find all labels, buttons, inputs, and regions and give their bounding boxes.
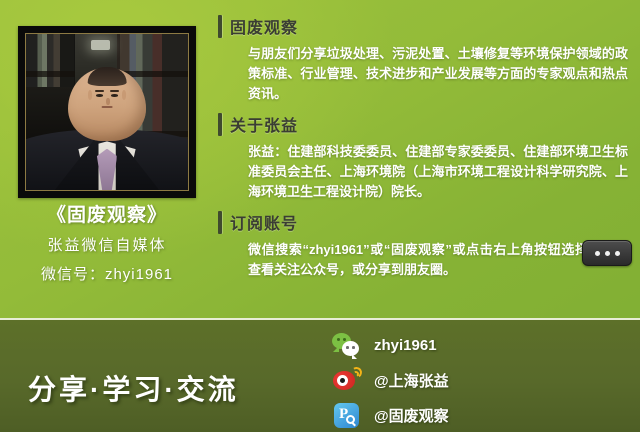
- section-marker-bar: [218, 113, 222, 136]
- section-marker-bar: [218, 15, 222, 38]
- sogou-search-icon: P: [332, 401, 362, 429]
- weibo-icon: [332, 366, 362, 394]
- eyebrow-left: [95, 90, 104, 92]
- more-options-button[interactable]: [582, 240, 632, 266]
- wechat-profile-card: 《固废观察》 张益微信自媒体 微信号：zhyi1961 固废观察 与朋友们分享垃…: [0, 0, 640, 432]
- dot-icon: [595, 251, 600, 256]
- wechat-bubble-white: [342, 341, 359, 356]
- profile-column: 《固废观察》 张益微信自媒体 微信号：zhyi1961: [0, 0, 214, 318]
- section-about-author: 关于张益 张益：住建部科技委委员、住建部专家委委员、住建部环境卫生标准委员会主任…: [214, 112, 640, 202]
- section-about-account: 固废观察 与朋友们分享垃圾处理、污泥处置、土壤修复等环境保护领域的政策标准、行业…: [214, 14, 640, 104]
- eye-right: [111, 94, 118, 97]
- section-marker-bar: [218, 211, 222, 234]
- portrait-scene: [26, 34, 188, 190]
- section-header: 关于张益: [214, 112, 640, 138]
- section-body: 与朋友们分享垃圾处理、污泥处置、土壤修复等环境保护领域的政策标准、行业管理、技术…: [248, 44, 628, 104]
- footer-slogan: 分享·学习·交流: [28, 368, 239, 408]
- social-row-sogou[interactable]: P @固废观察: [332, 398, 502, 432]
- ear-left: [88, 90, 93, 99]
- wechat-icon: [332, 331, 362, 359]
- sogou-tile: P: [334, 403, 359, 428]
- social-label: @固废观察: [374, 405, 449, 426]
- section-title: 固废观察: [230, 20, 298, 37]
- section-body: 张益：住建部科技委委员、住建部专家委委员、住建部环境卫生标准委员会主任、上海环境…: [248, 142, 628, 202]
- nose: [106, 98, 110, 105]
- social-label: zhyi1961: [374, 337, 437, 354]
- social-links: zhyi1961 @上海张益 P @固废观察: [332, 328, 502, 432]
- section-header: 固废观察: [214, 14, 640, 40]
- hair: [88, 67, 127, 86]
- dot-icon: [615, 251, 620, 256]
- account-title: 《固废观察》: [0, 200, 214, 227]
- social-row-weibo[interactable]: @上海张益: [332, 363, 502, 397]
- mouth: [102, 106, 113, 107]
- magnifier-icon: [346, 415, 355, 424]
- section-title: 关于张益: [230, 118, 298, 135]
- portrait-photo: [25, 33, 189, 191]
- footer-bar: 分享·学习·交流 zhyi1961 @上海张益: [0, 318, 640, 432]
- section-subscribe: 订阅账号 微信搜索“zhyi1961”或“固废观察”或点击右上角按钮选择查看关注…: [214, 210, 640, 280]
- account-subtitle: 张益微信自媒体: [0, 234, 214, 255]
- section-header: 订阅账号: [214, 210, 640, 236]
- weibo-eye: [333, 371, 355, 390]
- head: [68, 68, 145, 141]
- section-body: 微信搜索“zhyi1961”或“固废观察”或点击右上角按钮选择查看关注公众号，或…: [248, 240, 588, 280]
- profile-caption: 《固废观察》 张益微信自媒体 微信号：zhyi1961: [0, 200, 214, 284]
- portrait-photo-frame: [18, 26, 196, 198]
- ceiling-light: [91, 40, 110, 49]
- section-title: 订阅账号: [230, 216, 298, 233]
- eyebrow-right: [110, 90, 119, 92]
- person-figure: [26, 68, 188, 190]
- ear-right: [122, 90, 127, 99]
- social-label: @上海张益: [374, 370, 449, 391]
- sections-column: 固废观察 与朋友们分享垃圾处理、污泥处置、土壤修复等环境保护领域的政策标准、行业…: [214, 0, 640, 318]
- eye-left: [96, 94, 103, 97]
- social-row-wechat[interactable]: zhyi1961: [332, 328, 502, 362]
- account-wechat-id: 微信号：zhyi1961: [0, 263, 214, 284]
- dot-icon: [605, 251, 610, 256]
